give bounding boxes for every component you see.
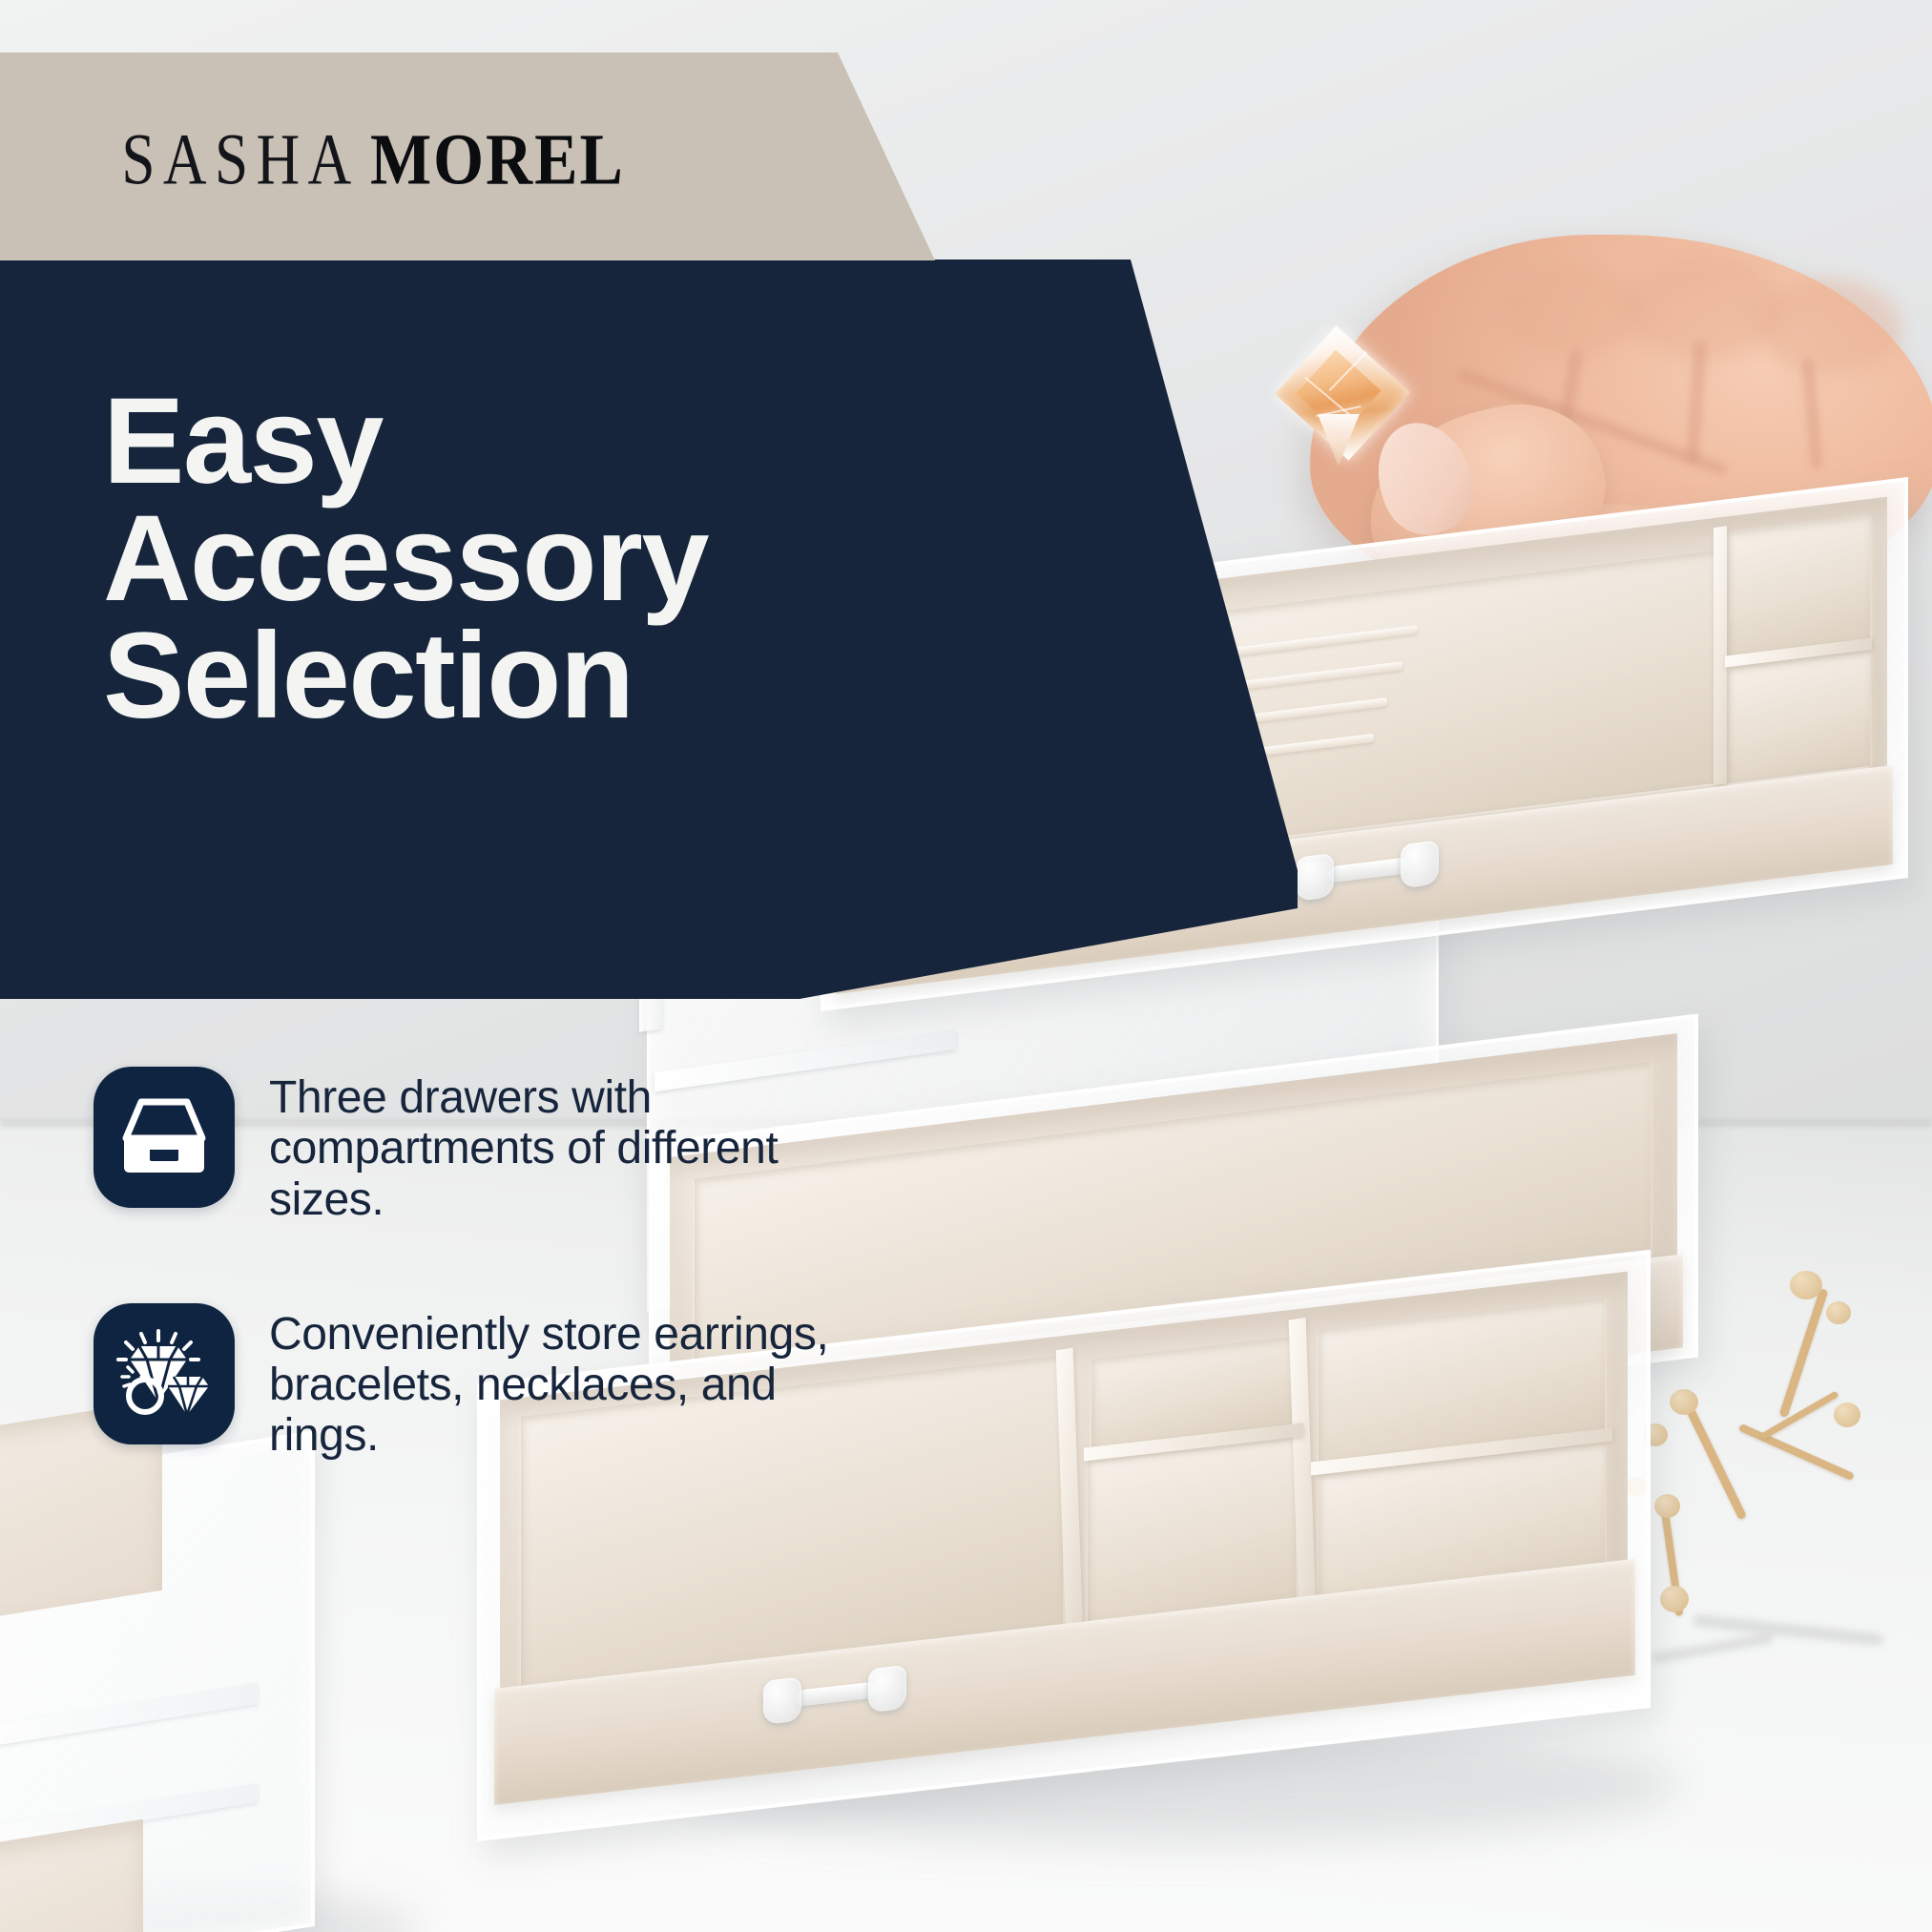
feature-item-drawers: Three drawers with compartments of diffe… [93, 1067, 876, 1225]
drawer-top-compartment [1727, 514, 1870, 659]
headline-line-2: Accessory [103, 501, 708, 618]
brand-name-bold: MOREL [370, 117, 625, 201]
headline-line-1: Easy [103, 384, 708, 501]
feature-item-jewelry: Conveniently store earrings, bracelets, … [93, 1303, 876, 1462]
handle-bar [796, 1681, 876, 1707]
handle-bar [1328, 857, 1408, 883]
page-title: Easy Accessory Selection [103, 384, 708, 736]
feature-text-drawers: Three drawers with compartments of diffe… [269, 1067, 876, 1225]
feature-list: Three drawers with compartments of diffe… [93, 1067, 876, 1540]
headline-line-3: Selection [103, 618, 708, 736]
feature-text-jewelry: Conveniently store earrings, bracelets, … [269, 1303, 876, 1462]
handle-knob-left [1296, 853, 1334, 902]
brand-logo: SASHA MOREL [113, 122, 625, 197]
jewelry-gems-icon [93, 1303, 235, 1444]
drawer-top-compartment [1727, 650, 1870, 783]
drawer-tray-icon [93, 1067, 235, 1208]
handle-knob-right [1401, 840, 1439, 888]
handle-knob-right [868, 1665, 906, 1714]
handle-knob-left [763, 1676, 801, 1725]
brand-name-thin: SASHA [121, 117, 359, 201]
gemstone [1283, 338, 1402, 467]
